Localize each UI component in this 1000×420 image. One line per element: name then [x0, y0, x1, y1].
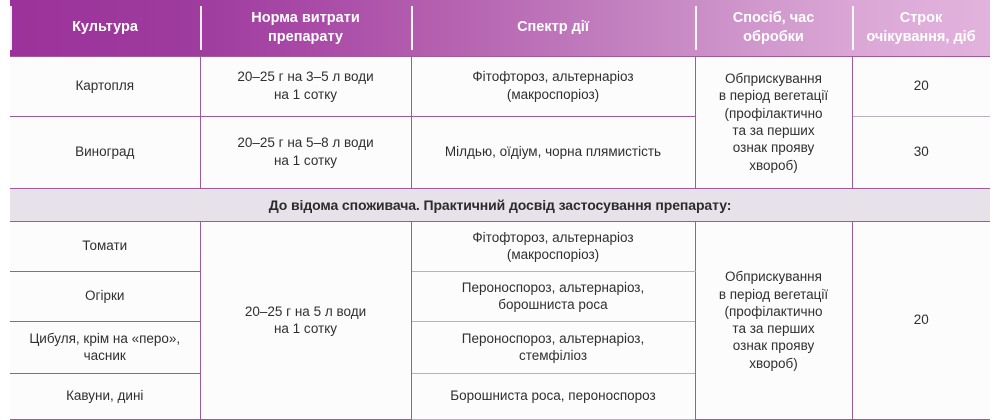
method-line-1: Обприскування — [725, 269, 822, 284]
culture-name: Огірки — [85, 288, 124, 303]
application-rates-table: Культура Норма витрати препарату Спектр … — [0, 0, 1000, 420]
waiting-days: 20 — [914, 312, 929, 327]
spectrum-line1: Пероноспороз, альтернаріоз, — [462, 280, 645, 295]
cell-waiting-potato: 20 — [852, 56, 990, 116]
dose-line1: 20–25 г на 3–5 л води — [237, 69, 373, 84]
header-label-spectrum: Спектр дії — [517, 19, 589, 35]
culture-name: Картопля — [75, 78, 134, 93]
dose-line2: на 1 сотку — [274, 87, 337, 102]
dose-line2: на 1 сотку — [274, 153, 337, 168]
method-line-6: хвороб) — [749, 356, 798, 371]
method-line-5: ознак прояву — [733, 338, 814, 353]
cell-culture-grape: Виноград — [10, 116, 200, 188]
cell-spectrum-grape: Мілдью, оїдіум, чорна плямистість — [411, 116, 695, 188]
row-spacer-left — [0, 373, 10, 419]
waiting-days: 30 — [914, 144, 929, 159]
cell-method-section-one: Обприскування в період вегетації (профіл… — [695, 56, 852, 188]
row-spacer-right — [990, 221, 1000, 271]
method-line-4: та за перших — [732, 123, 814, 138]
spectrum-line1: Мілдью, оїдіум, чорна плямистість — [445, 144, 661, 159]
notice-spacer-left — [0, 188, 10, 221]
cell-spectrum-melon: Борошниста роса, пероноспороз — [411, 373, 695, 419]
header-row: Культура Норма витрати препарату Спектр … — [0, 0, 1000, 56]
dose-line1: 20–25 г на 5 л води — [245, 304, 366, 319]
agro-table-container: Культура Норма витрати препарату Спектр … — [0, 0, 1000, 416]
header-label-waiting-line1: Строк — [900, 10, 943, 26]
row-spacer-right — [990, 321, 1000, 373]
method-line-5: ознак прояву — [733, 140, 814, 155]
header-label-dose-line1: Норма витрати — [251, 10, 360, 26]
cell-culture-cucumber: Огірки — [10, 271, 200, 321]
header-cell-dose: Норма витрати препарату — [200, 0, 411, 56]
header-cell-method: Спосіб, час обробки — [695, 0, 852, 56]
method-line-4: та за перших — [732, 321, 814, 336]
row-spacer-left — [0, 271, 10, 321]
cell-spectrum-cucumber: Пероноспороз, альтернаріоз, борошниста р… — [411, 271, 695, 321]
culture-name-line1: Цибуля, крім на «перо», — [29, 331, 180, 346]
row-spacer-left — [0, 56, 10, 116]
method-line-3: (профілактично — [724, 304, 822, 319]
cell-method-section-two: Обприскування в період вегетації (профіл… — [695, 221, 852, 419]
spectrum-line2: стемфіліоз — [519, 348, 587, 363]
cell-dose-potato: 20–25 г на 3–5 л води на 1 сотку — [200, 56, 411, 116]
cell-waiting-grape: 30 — [852, 116, 990, 188]
row-spacer-right — [990, 116, 1000, 188]
row-spacer-left — [0, 116, 10, 188]
row-spacer-right — [990, 271, 1000, 321]
notice-spacer-right — [990, 188, 1000, 221]
row-spacer-left — [0, 321, 10, 373]
notice-banner-row: До відома споживача. Практичний досвід з… — [0, 188, 1000, 221]
spectrum-line1: Пероноспороз, альтернаріоз, — [462, 331, 645, 346]
spectrum-line2: борошниста роса — [498, 297, 607, 312]
row-spacer-left — [0, 221, 10, 271]
spectrum-line1: Борошниста роса, пероноспороз — [450, 388, 655, 403]
header-label-culture: Культура — [72, 19, 138, 35]
culture-name: Томати — [82, 238, 127, 253]
culture-name: Виноград — [75, 144, 134, 159]
culture-name: Кавуни, дині — [66, 388, 143, 403]
header-cell-spectrum: Спектр дії — [411, 0, 695, 56]
method-line-2: в період вегетації — [719, 88, 828, 103]
cell-spectrum-onion-garlic: Пероноспороз, альтернаріоз, стемфіліоз — [411, 321, 695, 373]
header-spacer-left — [0, 0, 10, 56]
cell-waiting-section-two: 20 — [852, 221, 990, 419]
table-row: Картопля 20–25 г на 3–5 л води на 1 сотк… — [0, 56, 1000, 116]
cell-culture-potato: Картопля — [10, 56, 200, 116]
table-header: Культура Норма витрати препарату Спектр … — [0, 0, 1000, 56]
notice-banner-text: До відома споживача. Практичний досвід з… — [10, 188, 990, 221]
cell-spectrum-tomato: Фітофтороз, альтернаріоз (макроспоріоз) — [411, 221, 695, 271]
spectrum-line1: Фітофтороз, альтернаріоз — [472, 230, 633, 245]
table-body: Картопля 20–25 г на 3–5 л води на 1 сотк… — [0, 56, 1000, 419]
cell-culture-melon: Кавуни, дині — [10, 373, 200, 419]
row-spacer-right — [990, 373, 1000, 419]
culture-name-line2: часник — [84, 348, 126, 363]
method-line-1: Обприскування — [725, 71, 822, 86]
header-label-waiting-line2: очікування, діб — [866, 29, 975, 45]
spectrum-line1: Фітофтороз, альтернаріоз — [472, 69, 633, 84]
header-cell-culture: Культура — [10, 0, 200, 56]
cell-spectrum-potato: Фітофтороз, альтернаріоз (макроспоріоз) — [411, 56, 695, 116]
waiting-days: 20 — [914, 78, 929, 93]
cell-culture-onion-garlic: Цибуля, крім на «перо», часник — [10, 321, 200, 373]
row-spacer-right — [990, 56, 1000, 116]
method-line-6: хвороб) — [749, 158, 798, 173]
dose-line2: на 1 сотку — [274, 321, 337, 336]
header-label-dose-line2: препарату — [268, 29, 343, 45]
cell-culture-tomato: Томати — [10, 221, 200, 271]
header-spacer-right — [990, 0, 1000, 56]
table-row: Томати 20–25 г на 5 л води на 1 сотку Фі… — [0, 221, 1000, 271]
cell-dose-grape: 20–25 г на 5–8 л води на 1 сотку — [200, 116, 411, 188]
header-label-method-line1: Спосіб, час — [733, 10, 815, 26]
spectrum-line2: (макроспоріоз) — [507, 87, 599, 102]
method-line-2: в період вегетації — [719, 287, 828, 302]
cell-dose-section-two: 20–25 г на 5 л води на 1 сотку — [200, 221, 411, 419]
dose-line1: 20–25 г на 5–8 л води — [237, 135, 373, 150]
method-line-3: (профілактично — [724, 106, 822, 121]
header-cell-waiting: Строк очікування, діб — [852, 0, 990, 56]
header-label-method-line2: обробки — [743, 29, 804, 45]
spectrum-line2: (макроспоріоз) — [507, 247, 599, 262]
